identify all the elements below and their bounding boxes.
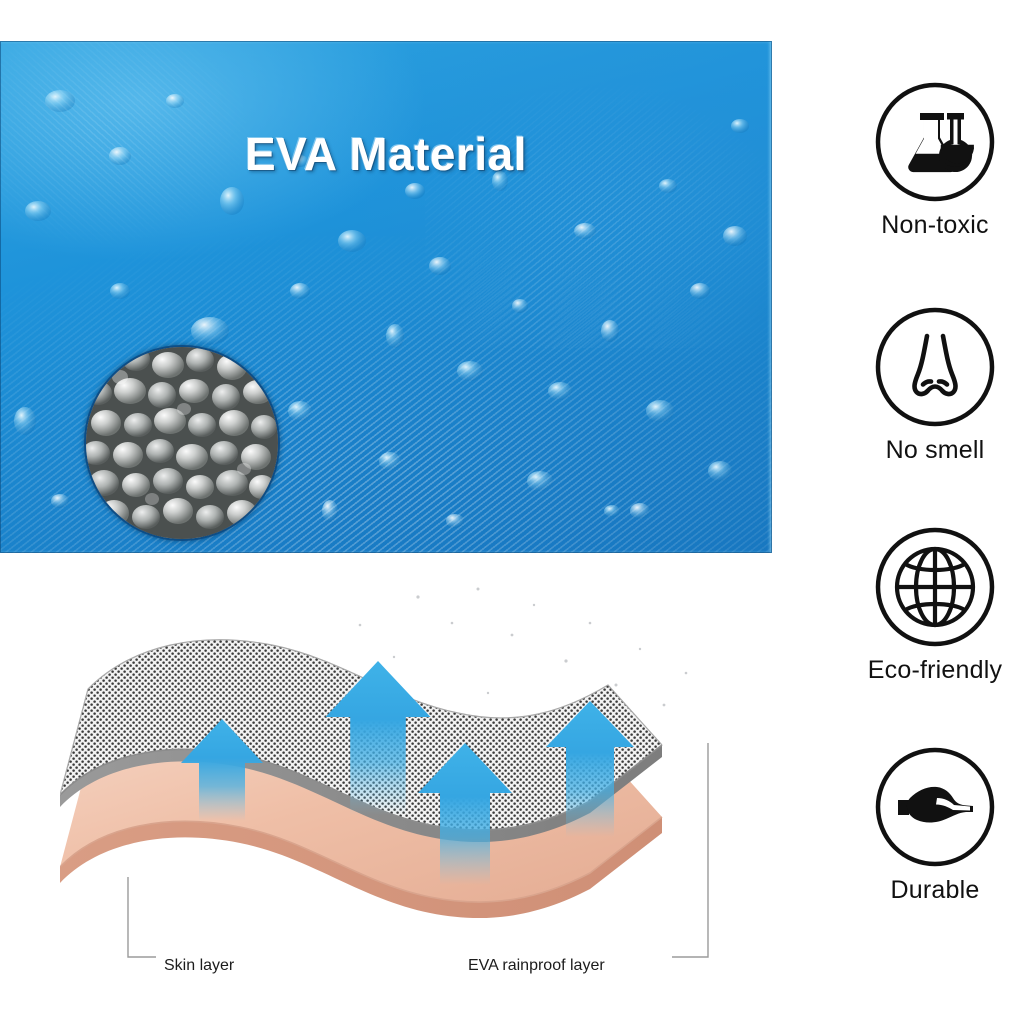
feature-label-no-smell: No smell <box>846 436 1024 465</box>
globe-icon <box>874 526 996 648</box>
infographic-page: EVA Material <box>0 0 1024 1024</box>
feature-label-durable: Durable <box>846 876 1024 905</box>
layer-cross-section <box>60 565 740 1005</box>
photo-border <box>0 41 772 553</box>
flask-icon <box>874 81 996 203</box>
hand-icon <box>874 746 996 868</box>
feature-label-eco-friendly: Eco-friendly <box>846 656 1024 685</box>
feature-icon-column: Non-toxic No smell <box>846 41 1024 931</box>
feature-label-non-toxic: Non-toxic <box>846 211 1024 240</box>
leader-line-skin <box>128 877 156 957</box>
feature-item-non-toxic[interactable]: Non-toxic <box>846 81 1024 240</box>
fabric-layer-diagram: Skin layer EVA rainproof layer <box>60 565 740 1005</box>
leader-line-eva <box>672 743 708 957</box>
diagram-label-skin-layer: Skin layer <box>164 957 234 975</box>
feature-item-durable[interactable]: Durable <box>846 746 1024 905</box>
eva-material-photo: EVA Material <box>0 41 772 553</box>
diagram-label-eva-rainproof-layer: EVA rainproof layer <box>468 957 605 975</box>
nose-icon <box>874 306 996 428</box>
feature-item-no-smell[interactable]: No smell <box>846 306 1024 465</box>
feature-item-eco-friendly[interactable]: Eco-friendly <box>846 526 1024 685</box>
